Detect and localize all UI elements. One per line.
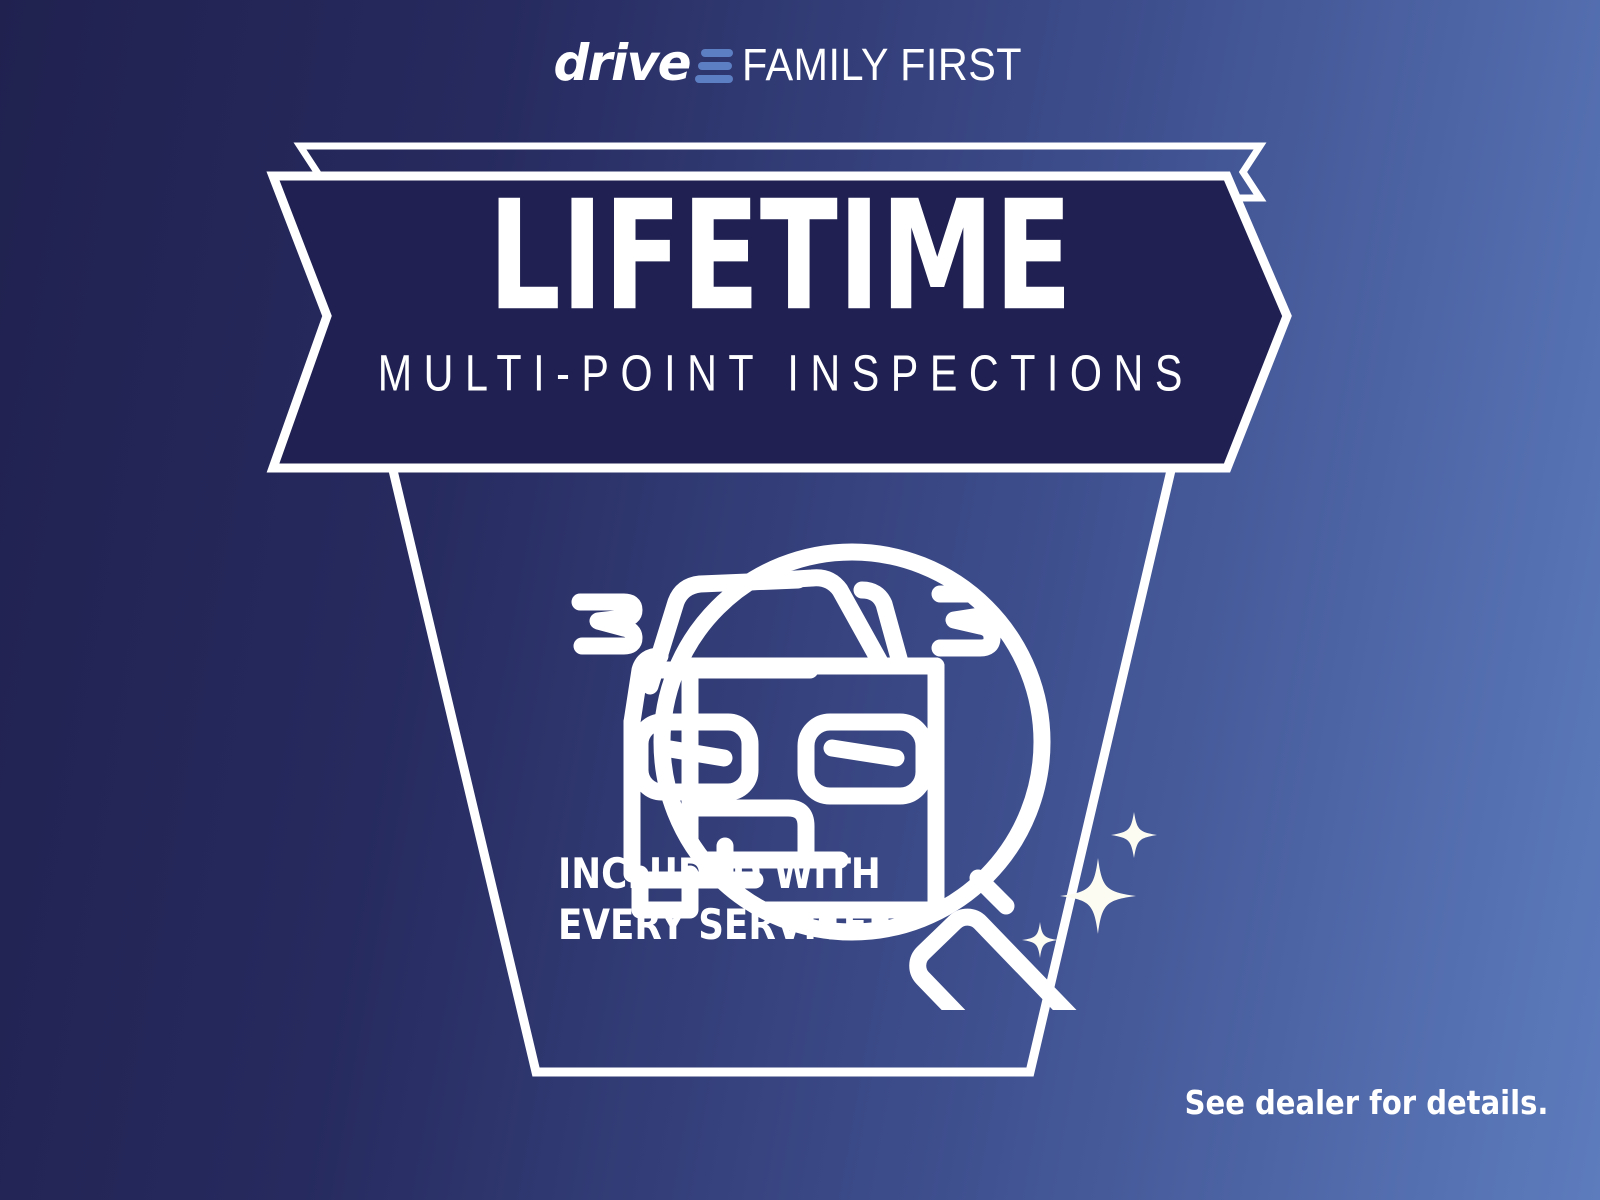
sparkle-medium: [1111, 812, 1157, 858]
banner-text-block: LIFETIME MULTI-POINT INSPECTIONS: [265, 138, 1295, 498]
drive-bar-2: [698, 62, 732, 70]
drive-bars-icon: [695, 49, 733, 83]
banner-subhead: MULTI-POINT INSPECTIONS: [366, 349, 1194, 400]
brand-tagline: FAMILY FIRST: [742, 42, 1022, 87]
promo-graphic: drive FAMILY FIRST LIFETIME MULTI-POINT …: [0, 0, 1600, 1200]
drive-bar-3: [695, 75, 733, 83]
magnifier-neck: [978, 878, 1006, 906]
brand-wordmark: drive: [554, 38, 691, 88]
drive-bar-1: [701, 49, 733, 57]
magnifier-handle: [910, 910, 1113, 1010]
sparkle-small: [1022, 922, 1058, 958]
sparkle-group: [1022, 812, 1157, 958]
sparkle-large: [1060, 858, 1136, 934]
brand-logo: drive FAMILY FIRST: [0, 34, 1600, 94]
included-line-2: EVERY SERVICE: [558, 899, 881, 950]
banner-ribbon: LIFETIME MULTI-POINT INSPECTIONS: [265, 138, 1295, 498]
included-text-block: INCLUDED WITH EVERY SERVICE: [558, 848, 881, 950]
disclaimer-text: See dealer for details.: [1184, 1083, 1548, 1122]
banner-headline: LIFETIME: [488, 180, 1072, 332]
included-line-1: INCLUDED WITH: [558, 848, 881, 899]
